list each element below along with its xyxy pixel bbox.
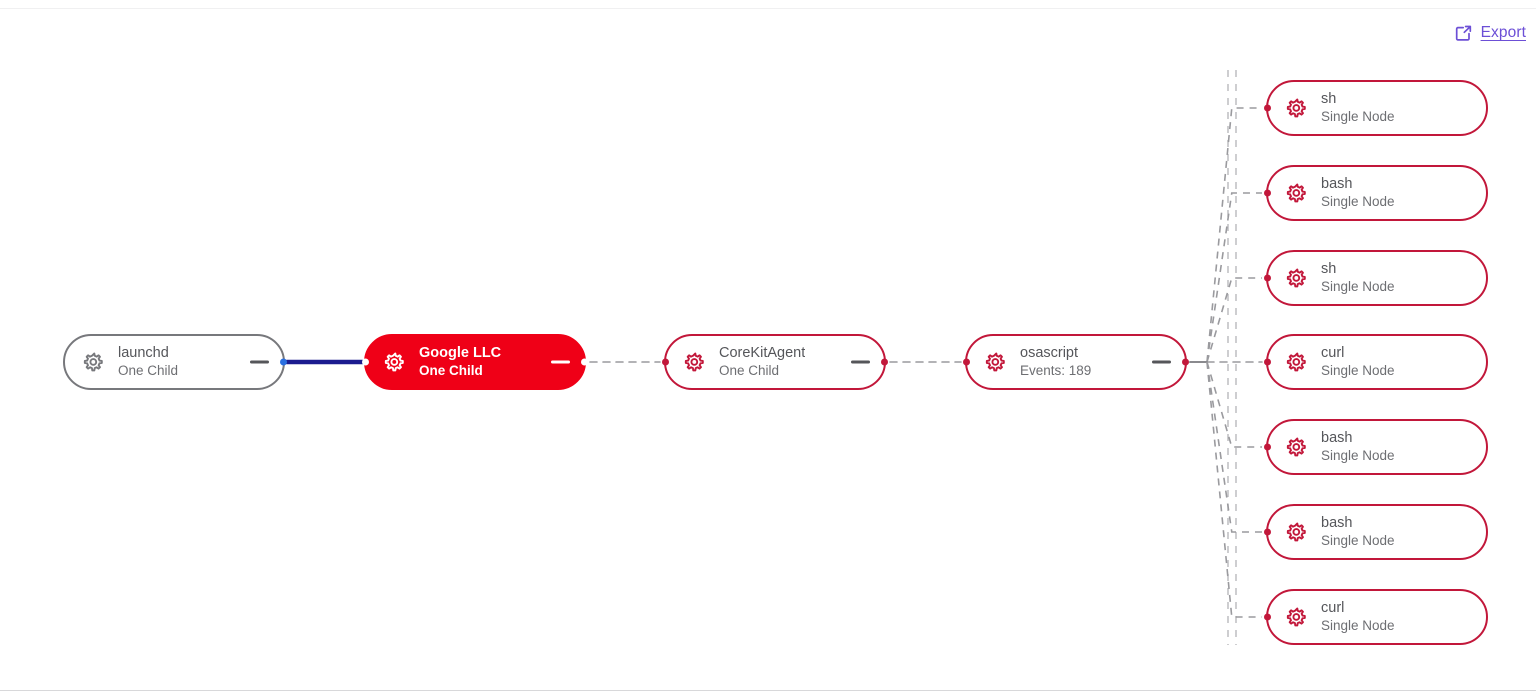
gear-icon xyxy=(1284,351,1307,374)
node-port-left xyxy=(1264,614,1271,621)
gear-icon xyxy=(1284,182,1307,205)
graph-node-leaf-curl-1[interactable]: curlSingle Node xyxy=(1266,334,1488,390)
node-port-left xyxy=(362,359,369,366)
graph-edge xyxy=(1207,362,1262,617)
graph-node-leaf-bash-1[interactable]: bashSingle Node xyxy=(1266,165,1488,221)
graph-node-leaf-bash-2[interactable]: bashSingle Node xyxy=(1266,419,1488,475)
gear-icon xyxy=(1284,606,1307,629)
gear-icon xyxy=(682,351,705,374)
gear-icon xyxy=(382,351,405,374)
graph-node-leaf-sh-2[interactable]: shSingle Node xyxy=(1266,250,1488,306)
node-subtitle: One Child xyxy=(719,363,805,379)
gear-icon xyxy=(1284,97,1307,120)
node-port-left xyxy=(1264,529,1271,536)
node-title: launchd xyxy=(118,345,178,361)
node-labels: shSingle Node xyxy=(1321,91,1395,125)
node-port-left xyxy=(963,359,970,366)
node-title: curl xyxy=(1321,600,1395,616)
collapse-toggle-icon[interactable] xyxy=(1152,361,1171,364)
gear-icon xyxy=(1284,521,1307,544)
graph-node-osascript[interactable]: osascriptEvents: 189 xyxy=(965,334,1187,390)
node-labels: shSingle Node xyxy=(1321,261,1395,295)
node-subtitle: Single Node xyxy=(1321,109,1395,125)
node-subtitle: Single Node xyxy=(1321,448,1395,464)
gear-icon xyxy=(983,351,1006,374)
graph-edge xyxy=(1207,193,1262,362)
graph-edge xyxy=(1207,278,1262,362)
node-title: curl xyxy=(1321,345,1395,361)
graph-node-leaf-curl-2[interactable]: curlSingle Node xyxy=(1266,589,1488,645)
node-port-left xyxy=(662,359,669,366)
node-subtitle: Events: 189 xyxy=(1020,363,1091,379)
graph-node-leaf-sh-1[interactable]: shSingle Node xyxy=(1266,80,1488,136)
node-port-left xyxy=(1264,190,1271,197)
node-labels: bashSingle Node xyxy=(1321,430,1395,464)
node-title: sh xyxy=(1321,261,1395,277)
node-title: bash xyxy=(1321,515,1395,531)
node-port-left xyxy=(1264,105,1271,112)
node-labels: launchdOne Child xyxy=(118,345,178,379)
node-subtitle: One Child xyxy=(118,363,178,379)
node-subtitle: Single Node xyxy=(1321,279,1395,295)
node-subtitle: Single Node xyxy=(1321,533,1395,549)
node-labels: curlSingle Node xyxy=(1321,600,1395,634)
node-labels: CoreKitAgentOne Child xyxy=(719,345,805,379)
top-divider xyxy=(0,8,1536,9)
node-port-left xyxy=(1264,275,1271,282)
graph-edge xyxy=(1207,362,1262,447)
node-labels: Google LLCOne Child xyxy=(419,345,501,379)
node-title: osascript xyxy=(1020,345,1091,361)
node-title: bash xyxy=(1321,176,1395,192)
export-button[interactable]: Export xyxy=(1455,24,1526,42)
graph-edge xyxy=(1207,362,1262,532)
node-labels: bashSingle Node xyxy=(1321,176,1395,210)
node-port-right xyxy=(280,359,287,366)
node-port-right xyxy=(581,359,588,366)
node-labels: osascriptEvents: 189 xyxy=(1020,345,1091,379)
graph-node-leaf-bash-3[interactable]: bashSingle Node xyxy=(1266,504,1488,560)
graph-node-launchd[interactable]: launchdOne Child xyxy=(63,334,285,390)
graph-edge xyxy=(1207,108,1262,362)
graph-node-google-llc[interactable]: Google LLCOne Child xyxy=(364,334,586,390)
node-port-right xyxy=(881,359,888,366)
node-subtitle: Single Node xyxy=(1321,194,1395,210)
node-subtitle: One Child xyxy=(419,363,501,379)
node-subtitle: Single Node xyxy=(1321,618,1395,634)
collapse-toggle-icon[interactable] xyxy=(551,361,570,364)
export-share-icon xyxy=(1455,25,1472,42)
gear-icon xyxy=(1284,436,1307,459)
node-port-right xyxy=(1182,359,1189,366)
collapse-toggle-icon[interactable] xyxy=(250,361,269,364)
bottom-divider xyxy=(0,690,1536,691)
node-title: Google LLC xyxy=(419,345,501,361)
node-labels: bashSingle Node xyxy=(1321,515,1395,549)
graph-node-corekitagent[interactable]: CoreKitAgentOne Child xyxy=(664,334,886,390)
node-subtitle: Single Node xyxy=(1321,363,1395,379)
node-port-left xyxy=(1264,359,1271,366)
node-port-left xyxy=(1264,444,1271,451)
node-labels: curlSingle Node xyxy=(1321,345,1395,379)
gear-icon xyxy=(1284,267,1307,290)
gear-icon xyxy=(81,351,104,374)
node-title: bash xyxy=(1321,430,1395,446)
graph-canvas[interactable]: Export launchdOne ChildGoogle LLCOne Chi… xyxy=(0,0,1536,698)
export-label: Export xyxy=(1481,24,1526,42)
collapse-toggle-icon[interactable] xyxy=(851,361,870,364)
node-title: CoreKitAgent xyxy=(719,345,805,361)
node-title: sh xyxy=(1321,91,1395,107)
